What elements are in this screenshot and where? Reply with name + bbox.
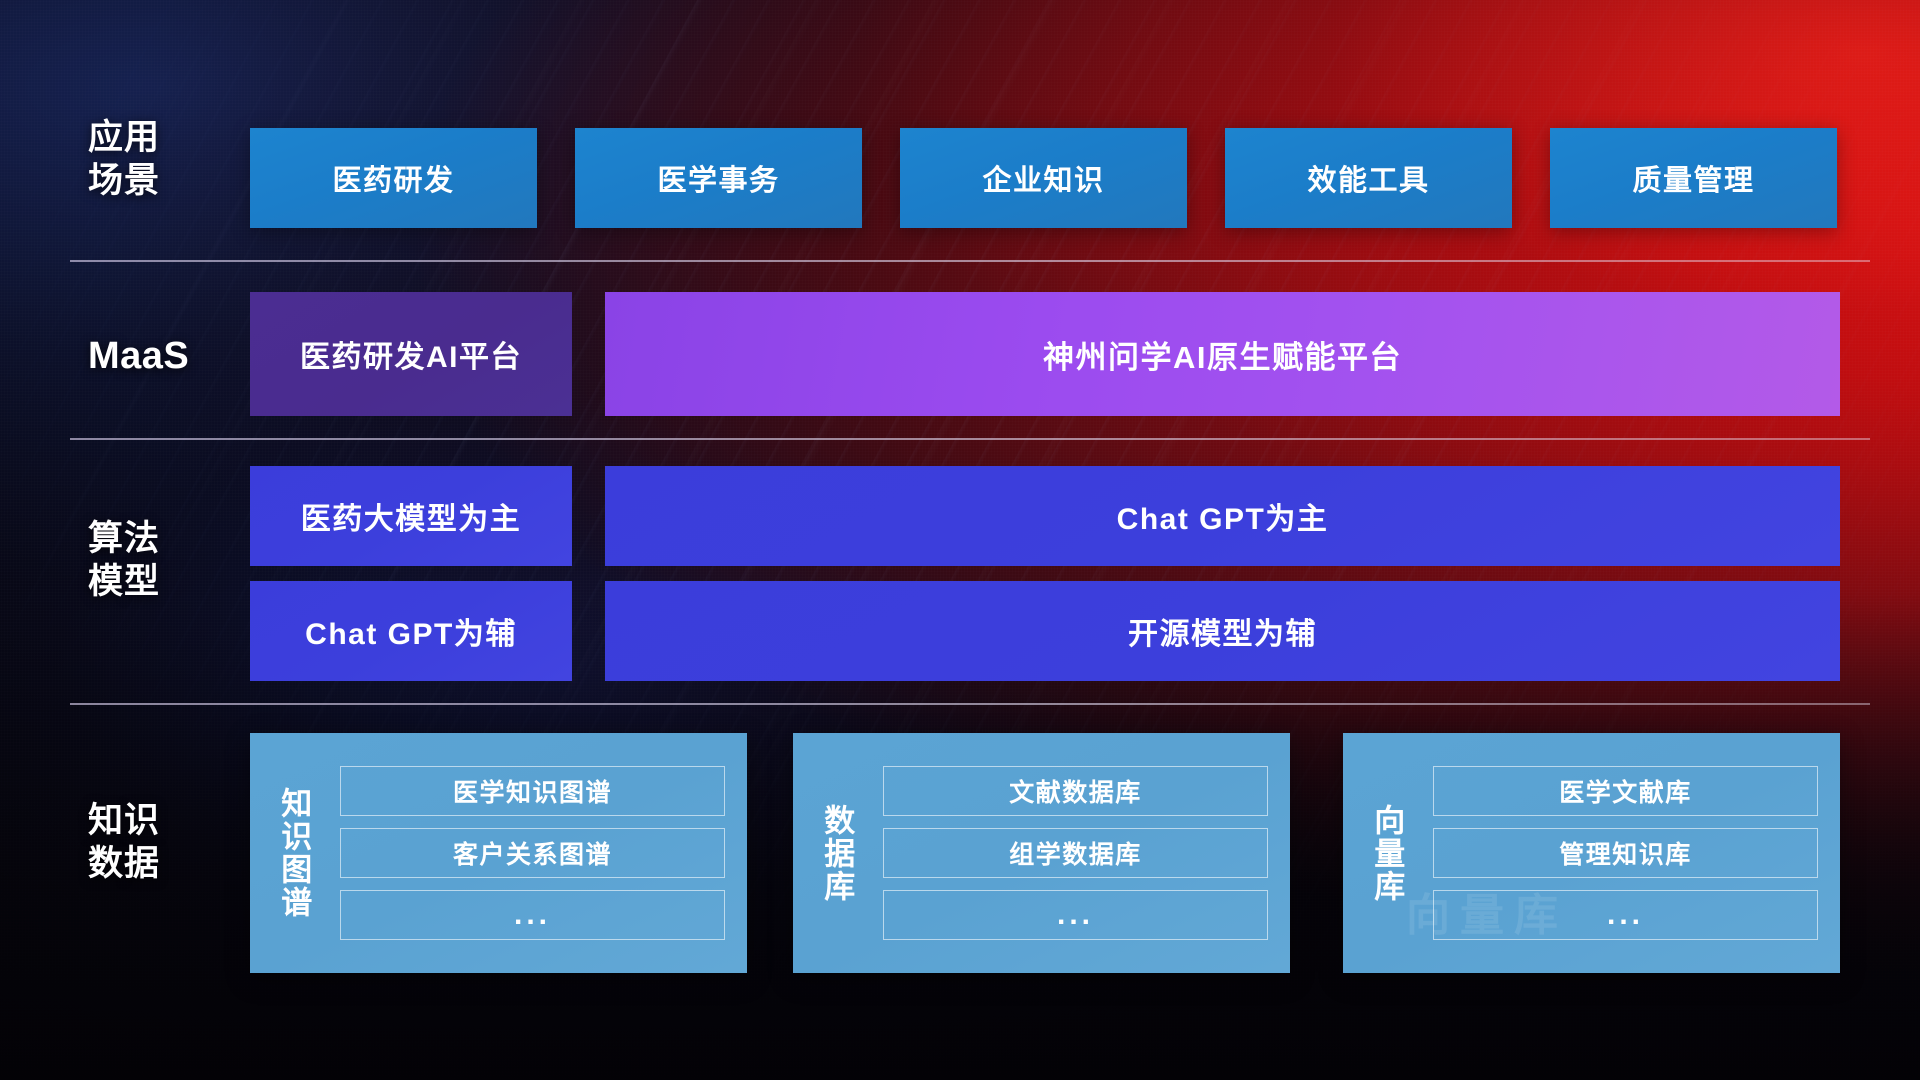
knowledge-item-omics-database[interactable]: 组学数据库 bbox=[883, 828, 1268, 878]
row-label-application: 应用 场景 bbox=[88, 117, 230, 202]
maas-box-shenzhou-wenxue-platform[interactable]: 神州问学AI原生赋能平台 bbox=[605, 292, 1840, 416]
divider-algorithm-knowledge bbox=[70, 703, 1870, 705]
knowledge-card-vector-store[interactable]: 向量库 医学文献库 管理知识库 ... bbox=[1343, 733, 1840, 973]
algorithm-box-opensource-model-auxiliary[interactable]: 开源模型为辅 bbox=[605, 581, 1840, 681]
knowledge-card-title-vector-store: 向量库 bbox=[1343, 733, 1429, 973]
app-box-enterprise-knowledge[interactable]: 企业知识 bbox=[900, 128, 1187, 228]
row-label-application-line2: 场景 bbox=[88, 160, 230, 203]
divider-maas-algorithm bbox=[70, 438, 1870, 440]
knowledge-item-more-knowledge-graph[interactable]: ... bbox=[340, 890, 725, 940]
row-label-maas-text: MaaS bbox=[88, 333, 230, 379]
row-label-algorithm: 算法 模型 bbox=[88, 518, 230, 603]
knowledge-card-items-knowledge-graph: 医学知识图谱 客户关系图谱 ... bbox=[336, 733, 747, 973]
knowledge-card-items-vector-store: 医学文献库 管理知识库 ... bbox=[1429, 733, 1840, 973]
app-box-efficiency-tools[interactable]: 效能工具 bbox=[1225, 128, 1512, 228]
row-label-algorithm-line2: 模型 bbox=[88, 561, 230, 604]
knowledge-card-items-database: 文献数据库 组学数据库 ... bbox=[879, 733, 1290, 973]
app-box-medical-affairs[interactable]: 医学事务 bbox=[575, 128, 862, 228]
row-label-knowledge: 知识 数据 bbox=[88, 800, 230, 885]
architecture-diagram: 应用 场景 医药研发 医学事务 企业知识 效能工具 质量管理 MaaS 医药研发… bbox=[0, 0, 1920, 1080]
divider-application-maas bbox=[70, 260, 1870, 262]
knowledge-item-medical-knowledge-graph[interactable]: 医学知识图谱 bbox=[340, 766, 725, 816]
knowledge-card-knowledge-graph[interactable]: 知识图谱 医学知识图谱 客户关系图谱 ... bbox=[250, 733, 747, 973]
algorithm-box-pharma-large-model-primary[interactable]: 医药大模型为主 bbox=[250, 466, 572, 566]
knowledge-card-database[interactable]: 数据库 文献数据库 组学数据库 ... bbox=[793, 733, 1290, 973]
row-label-knowledge-line1: 知识 bbox=[88, 800, 230, 843]
knowledge-item-medical-literature-store[interactable]: 医学文献库 bbox=[1433, 766, 1818, 816]
maas-box-drug-rd-ai-platform[interactable]: 医药研发AI平台 bbox=[250, 292, 572, 416]
row-label-knowledge-line2: 数据 bbox=[88, 843, 230, 886]
knowledge-item-more-vector-store[interactable]: ... bbox=[1433, 890, 1818, 940]
algorithm-box-chatgpt-primary[interactable]: Chat GPT为主 bbox=[605, 466, 1840, 566]
app-box-drug-rd[interactable]: 医药研发 bbox=[250, 128, 537, 228]
knowledge-item-management-knowledge-store[interactable]: 管理知识库 bbox=[1433, 828, 1818, 878]
knowledge-item-literature-database[interactable]: 文献数据库 bbox=[883, 766, 1268, 816]
knowledge-card-title-database: 数据库 bbox=[793, 733, 879, 973]
row-label-maas: MaaS bbox=[88, 333, 230, 379]
knowledge-item-more-database[interactable]: ... bbox=[883, 890, 1268, 940]
row-label-application-line1: 应用 bbox=[88, 117, 230, 160]
knowledge-item-customer-relation-graph[interactable]: 客户关系图谱 bbox=[340, 828, 725, 878]
row-label-algorithm-line1: 算法 bbox=[88, 518, 230, 561]
app-box-quality-management[interactable]: 质量管理 bbox=[1550, 128, 1837, 228]
knowledge-card-title-knowledge-graph: 知识图谱 bbox=[250, 733, 336, 973]
algorithm-box-chatgpt-auxiliary[interactable]: Chat GPT为辅 bbox=[250, 581, 572, 681]
